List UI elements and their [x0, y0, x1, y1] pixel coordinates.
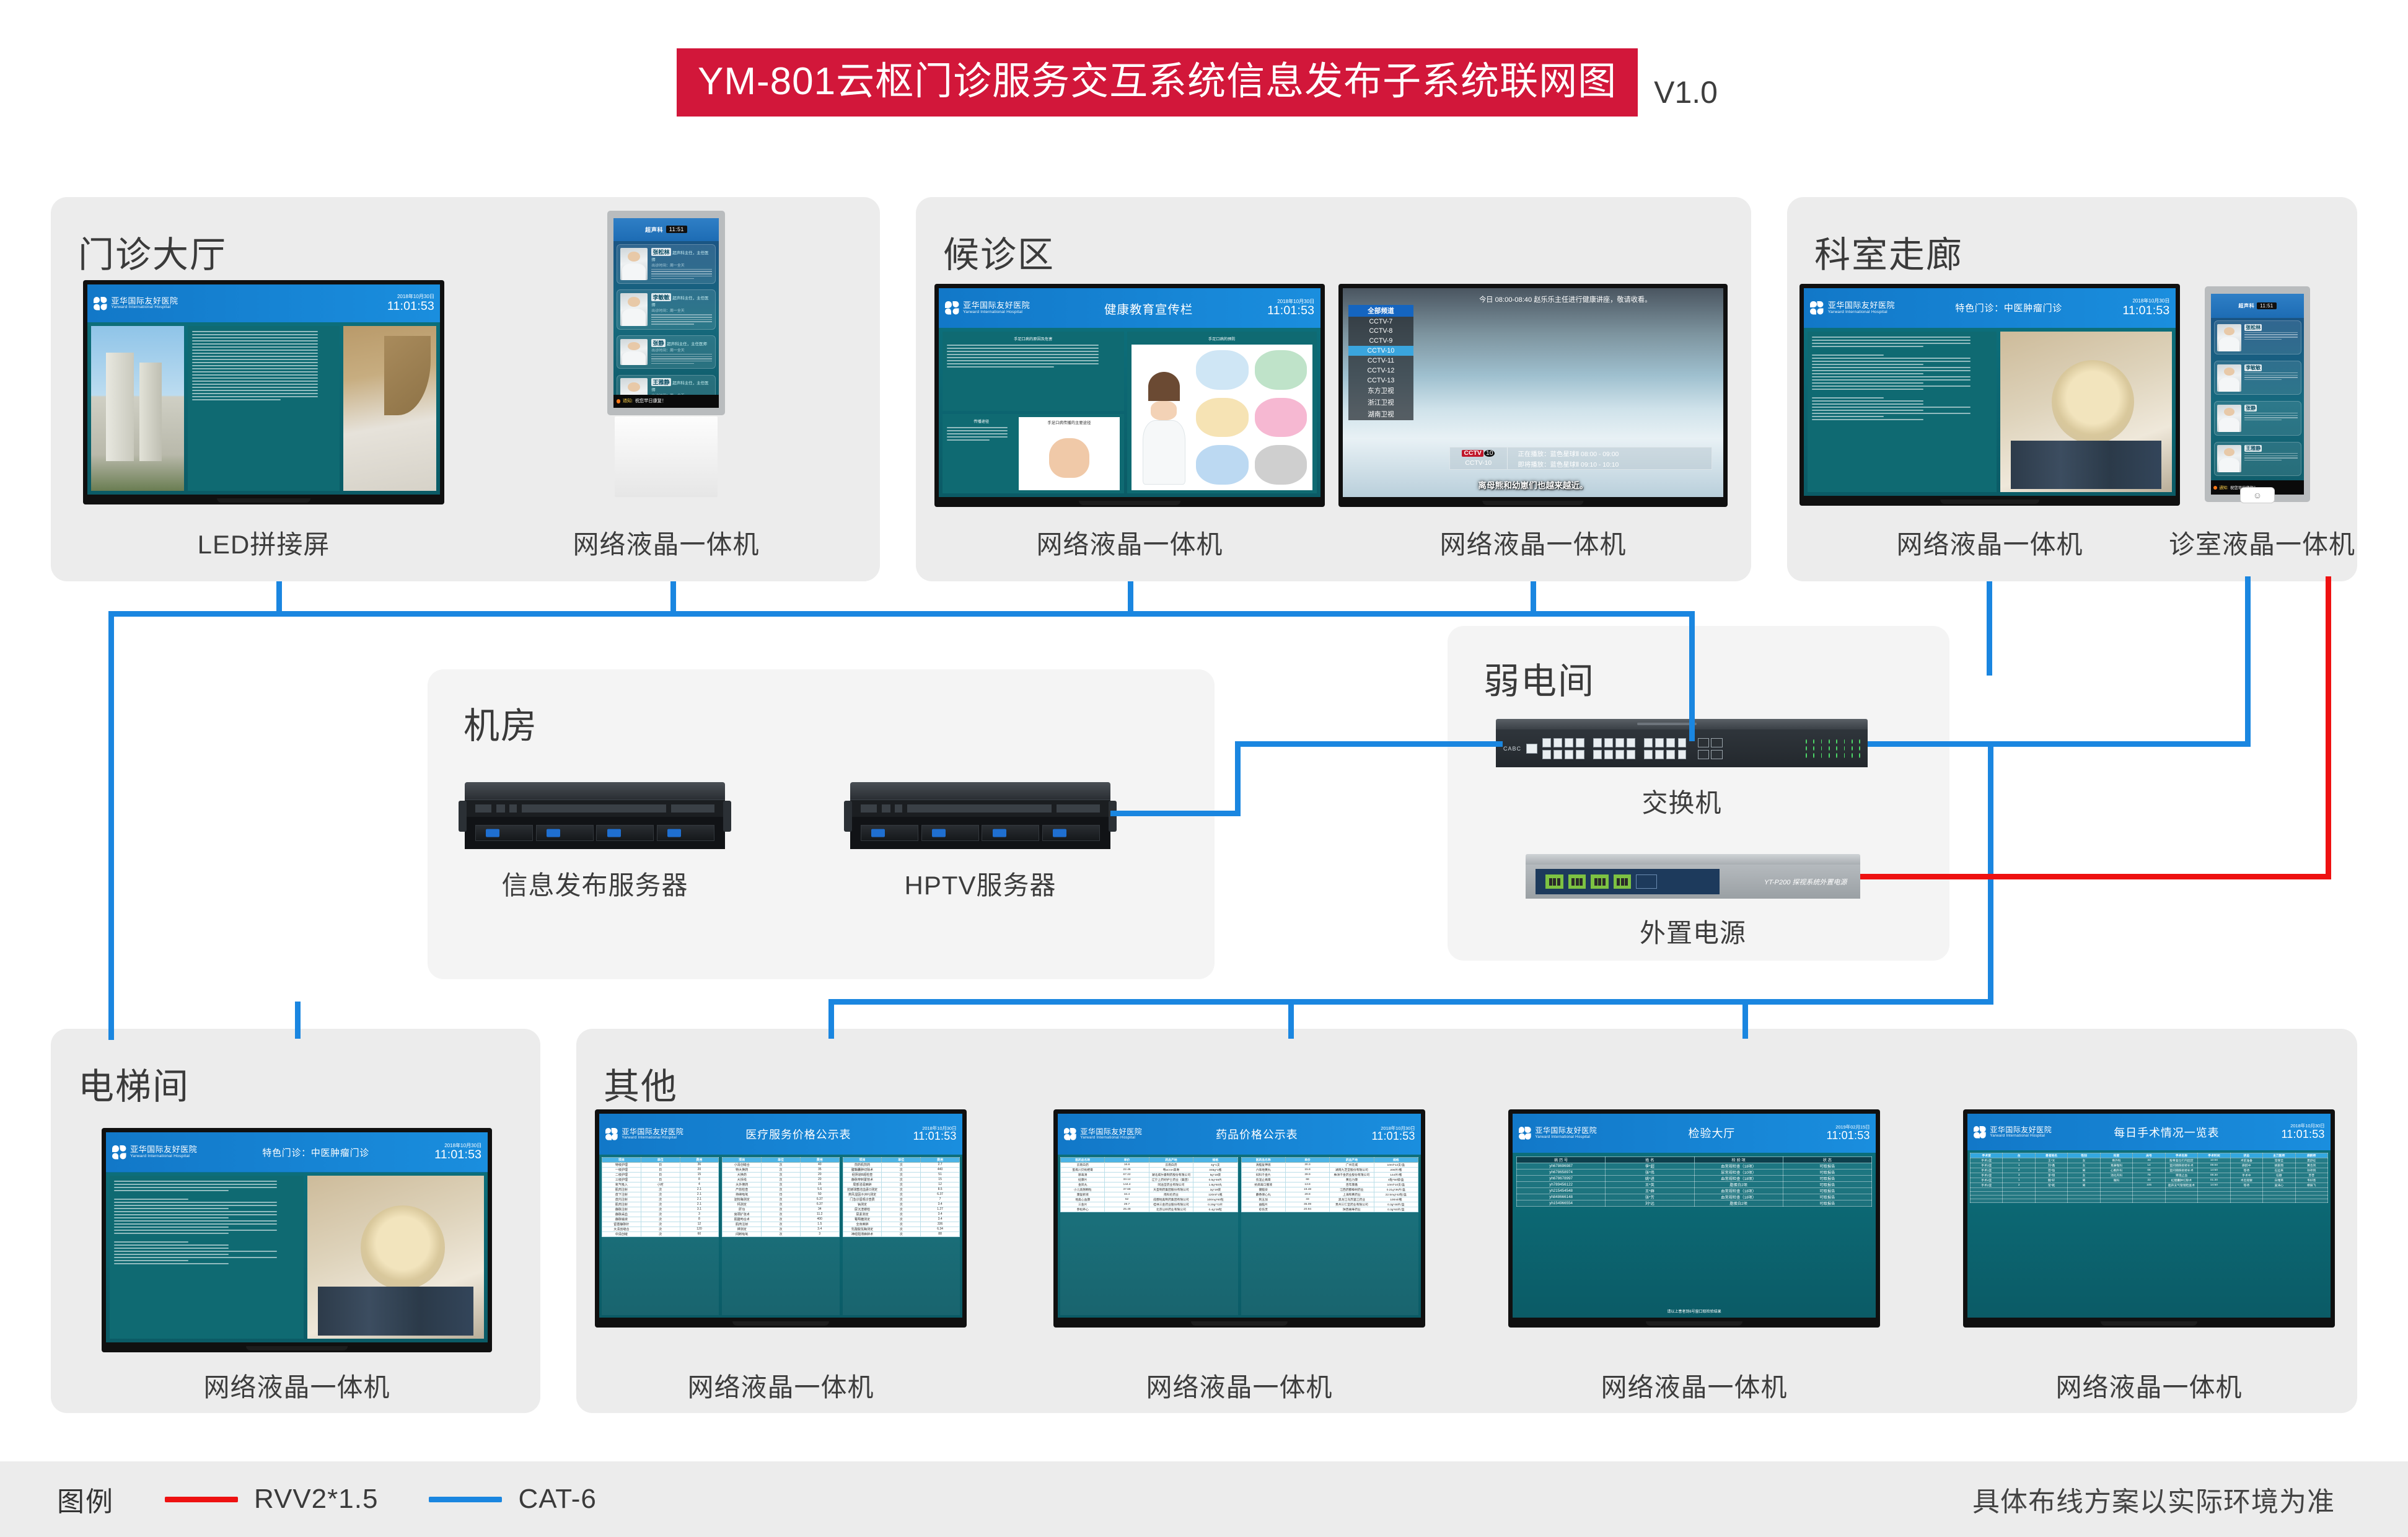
- notice-dot-icon: [617, 399, 621, 403]
- table-header-cell: 医药品名称: [1241, 1157, 1285, 1162]
- table-cell: 白瑞英: [2263, 1178, 2295, 1183]
- table-cell: 次: [882, 1192, 921, 1197]
- table-cell: 魏*轩: [2035, 1178, 2067, 1183]
- table-row[interactable]: 全身麻醉次336: [843, 1222, 959, 1227]
- table-cell: 三金片: [1061, 1202, 1105, 1207]
- table-row[interactable]: 清脑复神液30.3广州花城10ml*12支/盒: [1241, 1162, 1418, 1167]
- channel-item-cctv10[interactable]: CCTV-10: [1348, 346, 1413, 356]
- screen-time: 11:01:53: [387, 300, 434, 312]
- table-cell: 日: [641, 1167, 680, 1172]
- table-cell: 门急诊留观诊查费: [843, 1197, 882, 1202]
- table-cell: 一级护理: [602, 1167, 641, 1172]
- doctor-card[interactable]: 李敏敏: [2214, 361, 2301, 395]
- doctor-name: 王雅静: [651, 378, 671, 386]
- table-cell: 王*群: [1606, 1187, 1694, 1194]
- table-row[interactable]: 神经阻滞麻醉术次88: [843, 1231, 959, 1236]
- table-row[interactable]: 钙测定次6.37: [723, 1202, 839, 1207]
- table-row[interactable]: 局部浸润麻醉次12: [843, 1182, 959, 1187]
- table-cell: 0.21g*36片/盒: [1374, 1187, 1418, 1192]
- table-cell: 78: [2133, 1173, 2165, 1178]
- hfmd-transmission-caption: 手足口病传播的主要途径: [1047, 420, 1091, 425]
- table-cell: 静脉采血: [602, 1212, 641, 1217]
- table-cell: 南科伦药业: [1149, 1192, 1193, 1197]
- table-cell: 持续吸氧: [723, 1192, 762, 1197]
- screen-lab-hall[interactable]: 亚华国际友好医院 Yarward International Hospital …: [1508, 1109, 1880, 1328]
- screen-datetime: 2019年02月15日 11:01:53: [1826, 1125, 1870, 1142]
- table-cell: 男: [2068, 1178, 2100, 1183]
- table-cell: 次: [882, 1231, 921, 1236]
- channel-item-cctv13[interactable]: CCTV-13: [1348, 376, 1413, 385]
- table-cell: 女: [2068, 1158, 2100, 1163]
- table-cell: 19.48: [1285, 1187, 1329, 1192]
- table-cell: 李*琪: [2035, 1173, 2067, 1178]
- channel-item-dongfang[interactable]: 东方卫视: [1348, 385, 1413, 397]
- table-row[interactable]: 皮内注射次2.1: [602, 1197, 719, 1202]
- table-cell: 室间隔缺损修补术: [2165, 1163, 2197, 1168]
- table-row[interactable]: 皮下注射次2.1: [602, 1192, 719, 1197]
- table-cell: 2.1: [680, 1202, 719, 1207]
- wire-cat6-bottom-bus: [828, 999, 1993, 1005]
- hospital-name-cn: 亚华国际友好医院: [622, 1128, 683, 1136]
- table-cell: 22.46: [1105, 1167, 1149, 1172]
- hospital-logo-icon: [945, 301, 959, 315]
- table-row[interactable]: 乳酸脱氢酶测定次6.34: [843, 1227, 959, 1231]
- table-row[interactable]: 淀粉酶测定次6.37: [723, 1197, 839, 1202]
- hospital-brand: 亚华国际友好医院 Yarward International Hospital: [112, 1145, 197, 1160]
- kiosk-lobby[interactable]: 超声科 11:51 张松林 超声科主任，主任医师 出诊时间：周一全天: [607, 211, 725, 415]
- device-label-psu: 外置电源: [1526, 912, 1860, 950]
- table-row[interactable]: 氧气吸入小时4: [602, 1182, 719, 1187]
- wire-cat6-top-bus: [108, 611, 1695, 617]
- table-row[interactable]: 留置静脉针次12: [602, 1222, 719, 1227]
- doctor-avatar: [2217, 405, 2241, 433]
- table-cell: 次: [882, 1227, 921, 1231]
- table-row[interactable]: 静脉注射次3.1: [602, 1207, 719, 1212]
- table-row[interactable]: 三金片29.7桂林三金药业股份有限公司0.29g*72片: [1061, 1202, 1238, 1207]
- table-row[interactable]: 麝香保心丸29.8上海和黄药业22.5mg*42粒/盒: [1241, 1192, 1418, 1197]
- table-cell: 0.29g*72片: [1193, 1202, 1237, 1207]
- table-row[interactable]: 腱鞘囊肿切除术次440: [843, 1167, 959, 1172]
- hfmd-transmission-title: 传播途径: [947, 418, 1016, 424]
- table-cell: 次: [641, 1197, 680, 1202]
- table-header-cell: 状 态: [1783, 1156, 1871, 1163]
- table-cell: 次: [882, 1177, 921, 1182]
- table-row[interactable]: 手术3室1刘*鑫女耳鼻喉科14室间隔缺损修补术09:00麻醉中姚家雨黄合凤: [1971, 1163, 2328, 1168]
- table-header-cell: 手术时间: [2198, 1153, 2230, 1158]
- device-hptv-server[interactable]: [850, 782, 1110, 849]
- table-row[interactable]: 尿素测定次3.4: [843, 1212, 959, 1217]
- screen-title: 药品价格公示表: [1216, 1126, 1298, 1142]
- table-cell: 手术中: [2230, 1173, 2262, 1178]
- device-label-info-server: 信息发布服务器: [465, 865, 725, 902]
- table-header-cell: 项目: [843, 1157, 882, 1162]
- table-cell: 次: [882, 1187, 921, 1192]
- channel-item-cctv7[interactable]: CCTV-7: [1348, 317, 1413, 327]
- table-row[interactable]: 蜜炼川贝枇杷膏22.46粤источ高寿345g*1瓶: [1061, 1167, 1238, 1172]
- screen-surgery-schedule[interactable]: 亚华国际友好医院 Yarward International Hospital …: [1963, 1109, 2335, 1328]
- table-cell: 肌肉注射: [602, 1187, 641, 1192]
- hospital-name-en: Yarward International Hospital: [622, 1135, 683, 1140]
- device-label-elevator-screen: 网络液晶一体机: [102, 1367, 492, 1404]
- table-row[interactable]: 大清创缝合次120: [602, 1227, 719, 1231]
- table-cell: 33: [2133, 1158, 2165, 1163]
- table-cell: 3.4: [800, 1227, 839, 1231]
- kiosk-exam-room[interactable]: 超声科 11:51 张松林 李敏敏: [2205, 286, 2310, 502]
- table-cell: yh848666148: [1517, 1194, 1606, 1200]
- table-cell: 次: [882, 1202, 921, 1207]
- table-cell: 神经阻滞麻醉术: [843, 1231, 882, 1236]
- table-cell: 12: [921, 1182, 960, 1187]
- table-row[interactable]: 手术1室2范*恺男心胸外科06室间隔缺损修补术14:50等待石运来孙祈钒: [1971, 1168, 2328, 1173]
- table-cell: 产前检查: [723, 1187, 762, 1192]
- table-row[interactable]: 煎药机煎药次2.7: [843, 1162, 959, 1167]
- table-cell: 6.37: [800, 1202, 839, 1207]
- table-header-cell: 麻醉师: [2295, 1153, 2327, 1158]
- ct-room-photo: [2000, 332, 2172, 492]
- table-cell: [2035, 1199, 2067, 1203]
- table-cell: 成都地奥制药集团有限公司: [1149, 1197, 1193, 1202]
- table-cell: 40: [800, 1162, 839, 1167]
- device-network-switch[interactable]: CABC: [1496, 719, 1868, 767]
- table-cell: 11.2: [800, 1212, 839, 1217]
- table-cell: 大清创缝合: [602, 1227, 641, 1231]
- table-cell: 大拆线: [723, 1177, 762, 1182]
- table-row[interactable]: 手术2室2常*乾男 105超声支气管镜检查术14:50等待吴涛心柳辰飞: [1971, 1183, 2328, 1188]
- table-cell: 2.1: [680, 1187, 719, 1192]
- table-cell: yh154966554: [1517, 1200, 1606, 1206]
- table-row[interactable]: 小儿豉翘颗粒37.69天圣制药集团股份有限公司2g*18袋: [1061, 1187, 1238, 1192]
- channel-item-cctv11[interactable]: CCTV-11: [1348, 356, 1413, 366]
- notice-dot-icon: [2213, 486, 2217, 490]
- table-row[interactable]: 一级护理日20: [602, 1167, 719, 1172]
- table-cell: 血常规检查（18项）: [1694, 1187, 1783, 1194]
- table-row[interactable]: 小清创缝合次40: [723, 1162, 839, 1167]
- legend-bar: 图例 RVV2*1.5 CAT-6 具体布线方案以实际环境为准: [0, 1461, 2408, 1537]
- table-cell: 参松养心: [1061, 1207, 1105, 1212]
- table-row[interactable]: 肌肉注射次1.5: [723, 1222, 839, 1227]
- table-cell: 葡萄糖测定: [843, 1217, 882, 1222]
- screen-service-price[interactable]: 亚华国际友好医院 Yarward International Hospital …: [595, 1109, 967, 1328]
- table-row[interactable]: 中清创缝次60: [602, 1231, 719, 1236]
- table-row[interactable]: 抗病毒口服液13.8百年康鑫10ml*10支/盒: [1241, 1182, 1418, 1187]
- channel-item-cctv12[interactable]: CCTV-12: [1348, 366, 1413, 376]
- table-cell: 35.09: [1285, 1202, 1329, 1207]
- hospital-logo-icon: [605, 1127, 618, 1140]
- table-cell: 35: [800, 1167, 839, 1172]
- table-row[interactable]: 三级护理日8: [602, 1177, 719, 1182]
- table-row[interactable]: 大外擦药次15: [723, 1182, 839, 1187]
- table-cell: 0.4g*36粒: [1193, 1207, 1237, 1212]
- table-cell: 1: [2003, 1158, 2035, 1163]
- doctor-card[interactable]: 张松林: [2214, 320, 2301, 355]
- table-row[interactable]: 益脑片35.09贵州三仁堂药业有限公司0.3g*48片/盒: [1241, 1202, 1418, 1207]
- table-row[interactable]: 特级护理日36: [602, 1162, 719, 1167]
- channel-item-cctv8[interactable]: CCTV-8: [1348, 327, 1413, 337]
- table-cell: 8: [680, 1217, 719, 1222]
- table-cell: 上海和黄药业: [1330, 1192, 1374, 1197]
- table-row[interactable]: 静脉采血次3: [602, 1212, 719, 1217]
- table-row[interactable]: 手术4室1魏*轩男眼科33虹膜囊肿切除术01:30术后观察白瑞英韦好客: [1971, 1178, 2328, 1183]
- channel-item-hunan[interactable]: 湖南卫视: [1348, 408, 1413, 420]
- screen-health-board[interactable]: 亚华国际友好医院 Yarward International Hospital …: [934, 284, 1325, 507]
- table-row[interactable]: 门急诊留观诊查费次7: [843, 1197, 959, 1202]
- table-cell: [2133, 1199, 2165, 1203]
- table-row[interactable]: 健脑安19.48江西药都樟树药业0.21g*36片/盒: [1241, 1187, 1418, 1192]
- table-cell: 金凤丸: [1061, 1182, 1105, 1187]
- table-header-cell: 单位: [641, 1157, 680, 1162]
- table-header-cell: 规格: [1193, 1157, 1237, 1162]
- screen-time: 11:01:53: [2122, 304, 2169, 317]
- table-cell: 石运来: [2263, 1168, 2295, 1173]
- table-row-empty: [1971, 1199, 2328, 1203]
- hospital-name-en: Yarward International Hospital: [1080, 1135, 1142, 1140]
- table-cell: 三级护理: [602, 1177, 641, 1182]
- table-cell: 孙祈钒: [2295, 1168, 2327, 1173]
- table-cell: 女: [2068, 1163, 2100, 1168]
- table-cell: 尿沉渣镜检: [843, 1207, 882, 1212]
- table-cell: 等待: [2230, 1183, 2262, 1188]
- table-row[interactable]: 持续吸氧日50: [723, 1192, 839, 1197]
- table-row[interactable]: 钠测定次3.4: [843, 1202, 959, 1207]
- table-row[interactable]: 大换药次20: [723, 1172, 839, 1177]
- table-cell: 愈伤灵: [1241, 1207, 1285, 1212]
- screen-time: 11:01:53: [434, 1148, 481, 1161]
- table-cell: 常保全: [2263, 1158, 2295, 1163]
- table-cell: 336: [921, 1222, 960, 1227]
- table-row[interactable]: 肌肉注射次2.1: [602, 1187, 719, 1192]
- hospital-name-cn: 亚华国际友好医院: [1535, 1127, 1597, 1135]
- table-row[interactable]: 愈伤灵20.94陕西君寿药业0.3g*60片/盒: [1241, 1207, 1418, 1212]
- wire-cat6-corridor-screen-drop: [1987, 581, 1992, 676]
- table-row[interactable]: yh154966554刘*远脂蛋白2项可取报告: [1517, 1200, 1872, 1206]
- switch-status-leds: [1806, 739, 1860, 758]
- table-cell: 52: [1105, 1197, 1149, 1202]
- kiosk-checkin-button[interactable]: ☺: [2240, 487, 2275, 503]
- wire-cat6-server-to-switch-v: [1235, 741, 1241, 816]
- table-row[interactable]: 尿沉渣镜检次1.27: [843, 1207, 959, 1212]
- table-row[interactable]: 康复新液34.4南科伦药业120ml*1瓶: [1061, 1192, 1238, 1197]
- table-cell: 4贴*50袋/盒: [1374, 1177, 1418, 1182]
- table-row[interactable]: 妇科千金片39.9株洲千金药业股份有限公司144片/瓶: [1241, 1172, 1418, 1177]
- kiosk-clock: 11:51: [666, 226, 687, 233]
- hospital-logo-icon: [1063, 1127, 1076, 1140]
- table-row[interactable]: yh848666148张*芳血常规检查（18项）可取报告: [1517, 1194, 1872, 1200]
- table-cell: 次: [882, 1167, 921, 1172]
- table-cell: yh215454548: [1517, 1187, 1606, 1194]
- screen-drug-price[interactable]: 亚华国际友好医院 Yarward International Hospital …: [1053, 1109, 1425, 1328]
- table-row[interactable]: 尿毒清67.22湖北威尔曼制药股份有限公司5g*18袋: [1061, 1172, 1238, 1177]
- table-row[interactable]: 刺五加33黑龙江乌苏里江药业100ml/瓶: [1241, 1197, 1418, 1202]
- table-cell: 次: [641, 1192, 680, 1197]
- table-cell: 20.94: [1285, 1207, 1329, 1212]
- table-cell: 百年康鑫: [1330, 1182, 1374, 1187]
- table-cell: 肌肉注射: [723, 1222, 762, 1227]
- table-row[interactable]: 肌肉注射次2.1: [602, 1202, 719, 1207]
- switch-brand-label: CABC: [1503, 746, 1521, 752]
- table-cell: 次: [882, 1222, 921, 1227]
- screen-clinic-feature[interactable]: 亚华国际友好医院 Yarward International Hospital …: [1799, 284, 2180, 506]
- drug-price-table-col2: 医药品名称单价药品产地规格清脑复神液30.3广州花城10ml*12支/盒六味地黄…: [1241, 1157, 1419, 1212]
- table-cell: 手术3室: [1971, 1163, 2003, 1168]
- table-row[interactable]: 手术2室3李*琪女消化内科78胃镜止血08:30手术中任颖苏普: [1971, 1173, 2328, 1178]
- table-row[interactable]: 金凤丸144.4同溢堂药业有限公司1.8g*60丸: [1061, 1182, 1238, 1187]
- table-cell: 29.7: [1105, 1202, 1149, 1207]
- table-cell: 张*芳: [1606, 1194, 1694, 1200]
- table-row[interactable]: 参松养心25.49北京以岭药业有限公司0.4g*36粒: [1061, 1207, 1238, 1212]
- doctor-name: 张松林: [2244, 324, 2262, 331]
- table-row[interactable]: 肝功次34: [723, 1207, 839, 1212]
- table-cell: 钠测定: [843, 1202, 882, 1207]
- table-cell: 5g*18袋: [1193, 1172, 1237, 1177]
- hospital-logo-icon: [112, 1145, 126, 1160]
- table-cell: 小儿豉翘颗粒: [1061, 1187, 1105, 1192]
- table-cell: 类风湿因子(RF)测定: [843, 1192, 882, 1197]
- table-row[interactable]: 间断吸氧次3: [723, 1231, 839, 1236]
- table-cell: 任颖: [2263, 1173, 2295, 1178]
- device-external-power-supply[interactable]: YT-P200 探视系统外置电源: [1526, 854, 1860, 899]
- table-cell: 20: [800, 1172, 839, 1177]
- table-row[interactable]: 静脉穿刺置管术次15: [843, 1177, 959, 1182]
- table-row[interactable]: yh678678997姚*进血常规检查（18项）可取报告: [1517, 1175, 1872, 1181]
- table-row[interactable]: 产前检查次5.6: [723, 1187, 839, 1192]
- table-row[interactable]: 伤湿止痛膏68黄石力康4贴*50袋/盒: [1241, 1177, 1418, 1182]
- table-header-cell: 药品产地: [1149, 1157, 1193, 1162]
- table-cell: 88: [921, 1231, 960, 1236]
- table-cell: 100ml/瓶: [1374, 1197, 1418, 1202]
- screen-elevator[interactable]: 亚华国际友好医院 Yarward International Hospital …: [102, 1128, 492, 1352]
- table-header-cell: 台: [2003, 1153, 2035, 1158]
- doctor-card[interactable]: 王雅静: [2214, 442, 2301, 476]
- table-header-cell: 药品产地: [1330, 1157, 1374, 1162]
- table-cell: 次: [641, 1222, 680, 1227]
- table-row[interactable]: 地奥心血康52成都地奥制药集团有限公司100mg*60粒: [1061, 1197, 1238, 1202]
- table-header-cell: 患者姓名: [2035, 1153, 2067, 1158]
- table-cell: 次: [641, 1217, 680, 1222]
- table-cell: 4: [680, 1182, 719, 1187]
- table-cell: 400: [800, 1217, 839, 1222]
- table-cell: 康复新液: [1061, 1192, 1105, 1197]
- table-cell: 术前准备: [2230, 1158, 2262, 1163]
- zone-machine-room-title: 机房: [464, 697, 538, 749]
- table-cell: 麻醉中: [2230, 1163, 2262, 1168]
- screen-led-wall[interactable]: 亚华国际友好医院 Yarward International Hospital …: [83, 280, 444, 504]
- table-header-cell: 性别: [2068, 1153, 2100, 1158]
- table-cell: 10ml*12支/盒: [1374, 1162, 1418, 1167]
- kiosk-dept-title: 超声科: [2238, 302, 2254, 309]
- device-label-service-price: 网络液晶一体机: [595, 1367, 967, 1404]
- page-header: YM-801云枢门诊服务交互系统信息发布子系统联网图 V1.0: [677, 48, 1718, 117]
- table-cell: 次: [762, 1207, 801, 1212]
- table-row[interactable]: yh678658974张*伟尿常规检查（10项）可取报告: [1517, 1169, 1872, 1175]
- channel-item-cctv9[interactable]: CCTV-9: [1348, 336, 1413, 346]
- table-row[interactable]: 类风湿因子(RF)测定次6.37: [843, 1192, 959, 1197]
- legend-item-rvv: RVV2*1.5: [165, 1484, 378, 1515]
- doctor-card[interactable]: 张松林 超声科主任，主任医师 出诊时间：周一全天: [617, 244, 716, 284]
- table-row[interactable]: 钾测定次3.4: [723, 1227, 839, 1231]
- table-row[interactable]: 特大换药次35: [723, 1167, 839, 1172]
- table-cell: 张*伟: [1606, 1169, 1694, 1175]
- table-cell: 耳鼻喉科: [2100, 1163, 2132, 1168]
- table-row[interactable]: 抗链球菌溶血素O测定次8.5: [843, 1187, 959, 1192]
- table-row[interactable]: yh678696987李*超血常规检查（18项）可取报告: [1517, 1163, 1872, 1169]
- doctor-card[interactable]: 张静 超声科主任，主任医师 出诊时间：周一全天: [617, 335, 716, 369]
- hospital-brand: 亚华国际友好医院 Yarward International Hospital: [1518, 1127, 1597, 1140]
- zone-lobby-title: 门诊大厅: [78, 226, 227, 278]
- table-cell: 贵州三仁堂药业有限公司: [1330, 1202, 1374, 1207]
- table-row[interactable]: 妊康片33.12辽宁上药好护士药业（集团）0.5g*48片: [1061, 1177, 1238, 1182]
- table-row[interactable]: 二级护理日15: [602, 1172, 719, 1177]
- table-cell: 08:30: [2198, 1173, 2230, 1178]
- table-cell: 37.69: [1105, 1187, 1149, 1192]
- legend-swatch-rvv: [165, 1497, 238, 1502]
- hospital-name-en: Yarward International Hospital: [1535, 1135, 1597, 1139]
- hospital-lobby-photo: [343, 326, 436, 491]
- table-row[interactable]: 宫颈扩张术次11.2: [723, 1212, 839, 1217]
- hospital-brand: 亚华国际友好医院 Yarward International Hospital: [605, 1127, 683, 1140]
- table-row[interactable]: 六味地黄丸15.8湖南九芝堂股份有限公司200片/瓶: [1241, 1167, 1418, 1172]
- device-info-server[interactable]: [465, 782, 725, 849]
- table-row[interactable]: 葡萄糖测定次3.4: [843, 1217, 959, 1222]
- table-row[interactable]: 云南白药16.8云南白药4g*1支: [1061, 1162, 1238, 1167]
- table-cell: 次: [762, 1187, 801, 1192]
- table-cell: 尿素测定: [843, 1212, 882, 1217]
- doctor-card[interactable]: 张静: [2214, 401, 2301, 435]
- table-cell: 皮下注射: [602, 1192, 641, 1197]
- doctor-card[interactable]: 李敏敏 超声科主任，主任医师 出诊时间：周一全天: [617, 289, 716, 329]
- table-cell: 144片/瓶: [1374, 1172, 1418, 1177]
- table-cell: 29.8: [1285, 1192, 1329, 1197]
- table-cell: 次: [762, 1197, 801, 1202]
- table-cell: 肝功: [723, 1207, 762, 1212]
- table-cell: 尿常规检查（10项）: [1694, 1169, 1783, 1175]
- epg-channel-name: CCTV-10: [1465, 460, 1492, 467]
- iptv-channel-list[interactable]: 全部频道 CCTV-7 CCTV-8 CCTV-9 CCTV-10 CCTV-1…: [1348, 305, 1413, 420]
- screen-title: 特色门诊：中医肿瘤门诊: [262, 1146, 369, 1159]
- table-header-cell: 项目: [602, 1157, 641, 1162]
- table-cell: 次: [762, 1231, 801, 1236]
- table-cell: 01:30: [2198, 1178, 2230, 1183]
- table-row[interactable]: 手术1室1王*文女骨外科33股骨复位钉内固定10:00术前准备常保全夏舒征: [1971, 1158, 2328, 1163]
- table-row[interactable]: 静脉输液次8: [602, 1217, 719, 1222]
- screen-iptv[interactable]: 今日 08:00-08:40 赵乐乐主任进行健康讲座，敬请收看。 全部频道 CC…: [1338, 284, 1728, 507]
- channel-item-zhejiang[interactable]: 浙江卫视: [1348, 397, 1413, 408]
- table-row[interactable]: yh789456122王*英脂蛋白2项可取报告: [1517, 1181, 1872, 1187]
- table-cell: 次: [762, 1212, 801, 1217]
- table-cell: 王*英: [1606, 1181, 1694, 1187]
- screen-datetime: 2018年10月30日 11:01:53: [2122, 299, 2169, 317]
- zone-other-title: 其他: [604, 1057, 678, 1109]
- table-cell: 次: [762, 1217, 801, 1222]
- table-row[interactable]: 经阴道B超检查次51: [843, 1172, 959, 1177]
- screen-time: 11:01:53: [913, 1130, 956, 1142]
- screen-time: 11:01:53: [1267, 304, 1314, 317]
- table-cell: 淀粉酶测定: [723, 1197, 762, 1202]
- doctor-avatar: [2217, 364, 2241, 392]
- table-cell: 次: [762, 1222, 801, 1227]
- table-cell: 江西药都樟树药业: [1330, 1187, 1374, 1192]
- table-cell: 韦好客: [2295, 1178, 2327, 1183]
- table-row[interactable]: 肌腱吻合术次400: [723, 1217, 839, 1222]
- table-cell: 广州花城: [1330, 1162, 1374, 1167]
- table-cell: 手术2室: [1971, 1183, 2003, 1188]
- table-row[interactable]: yh215454548王*群血常规检查（18项）可取报告: [1517, 1187, 1872, 1194]
- table-header-cell: 手术室: [1971, 1153, 2003, 1158]
- table-cell: 血常规检查（18项）: [1694, 1175, 1783, 1181]
- hospital-logo-icon: [93, 296, 107, 310]
- table-cell: 云南白药: [1149, 1162, 1193, 1167]
- table-cell: 日: [641, 1162, 680, 1167]
- table-row[interactable]: 大拆线次20: [723, 1177, 839, 1182]
